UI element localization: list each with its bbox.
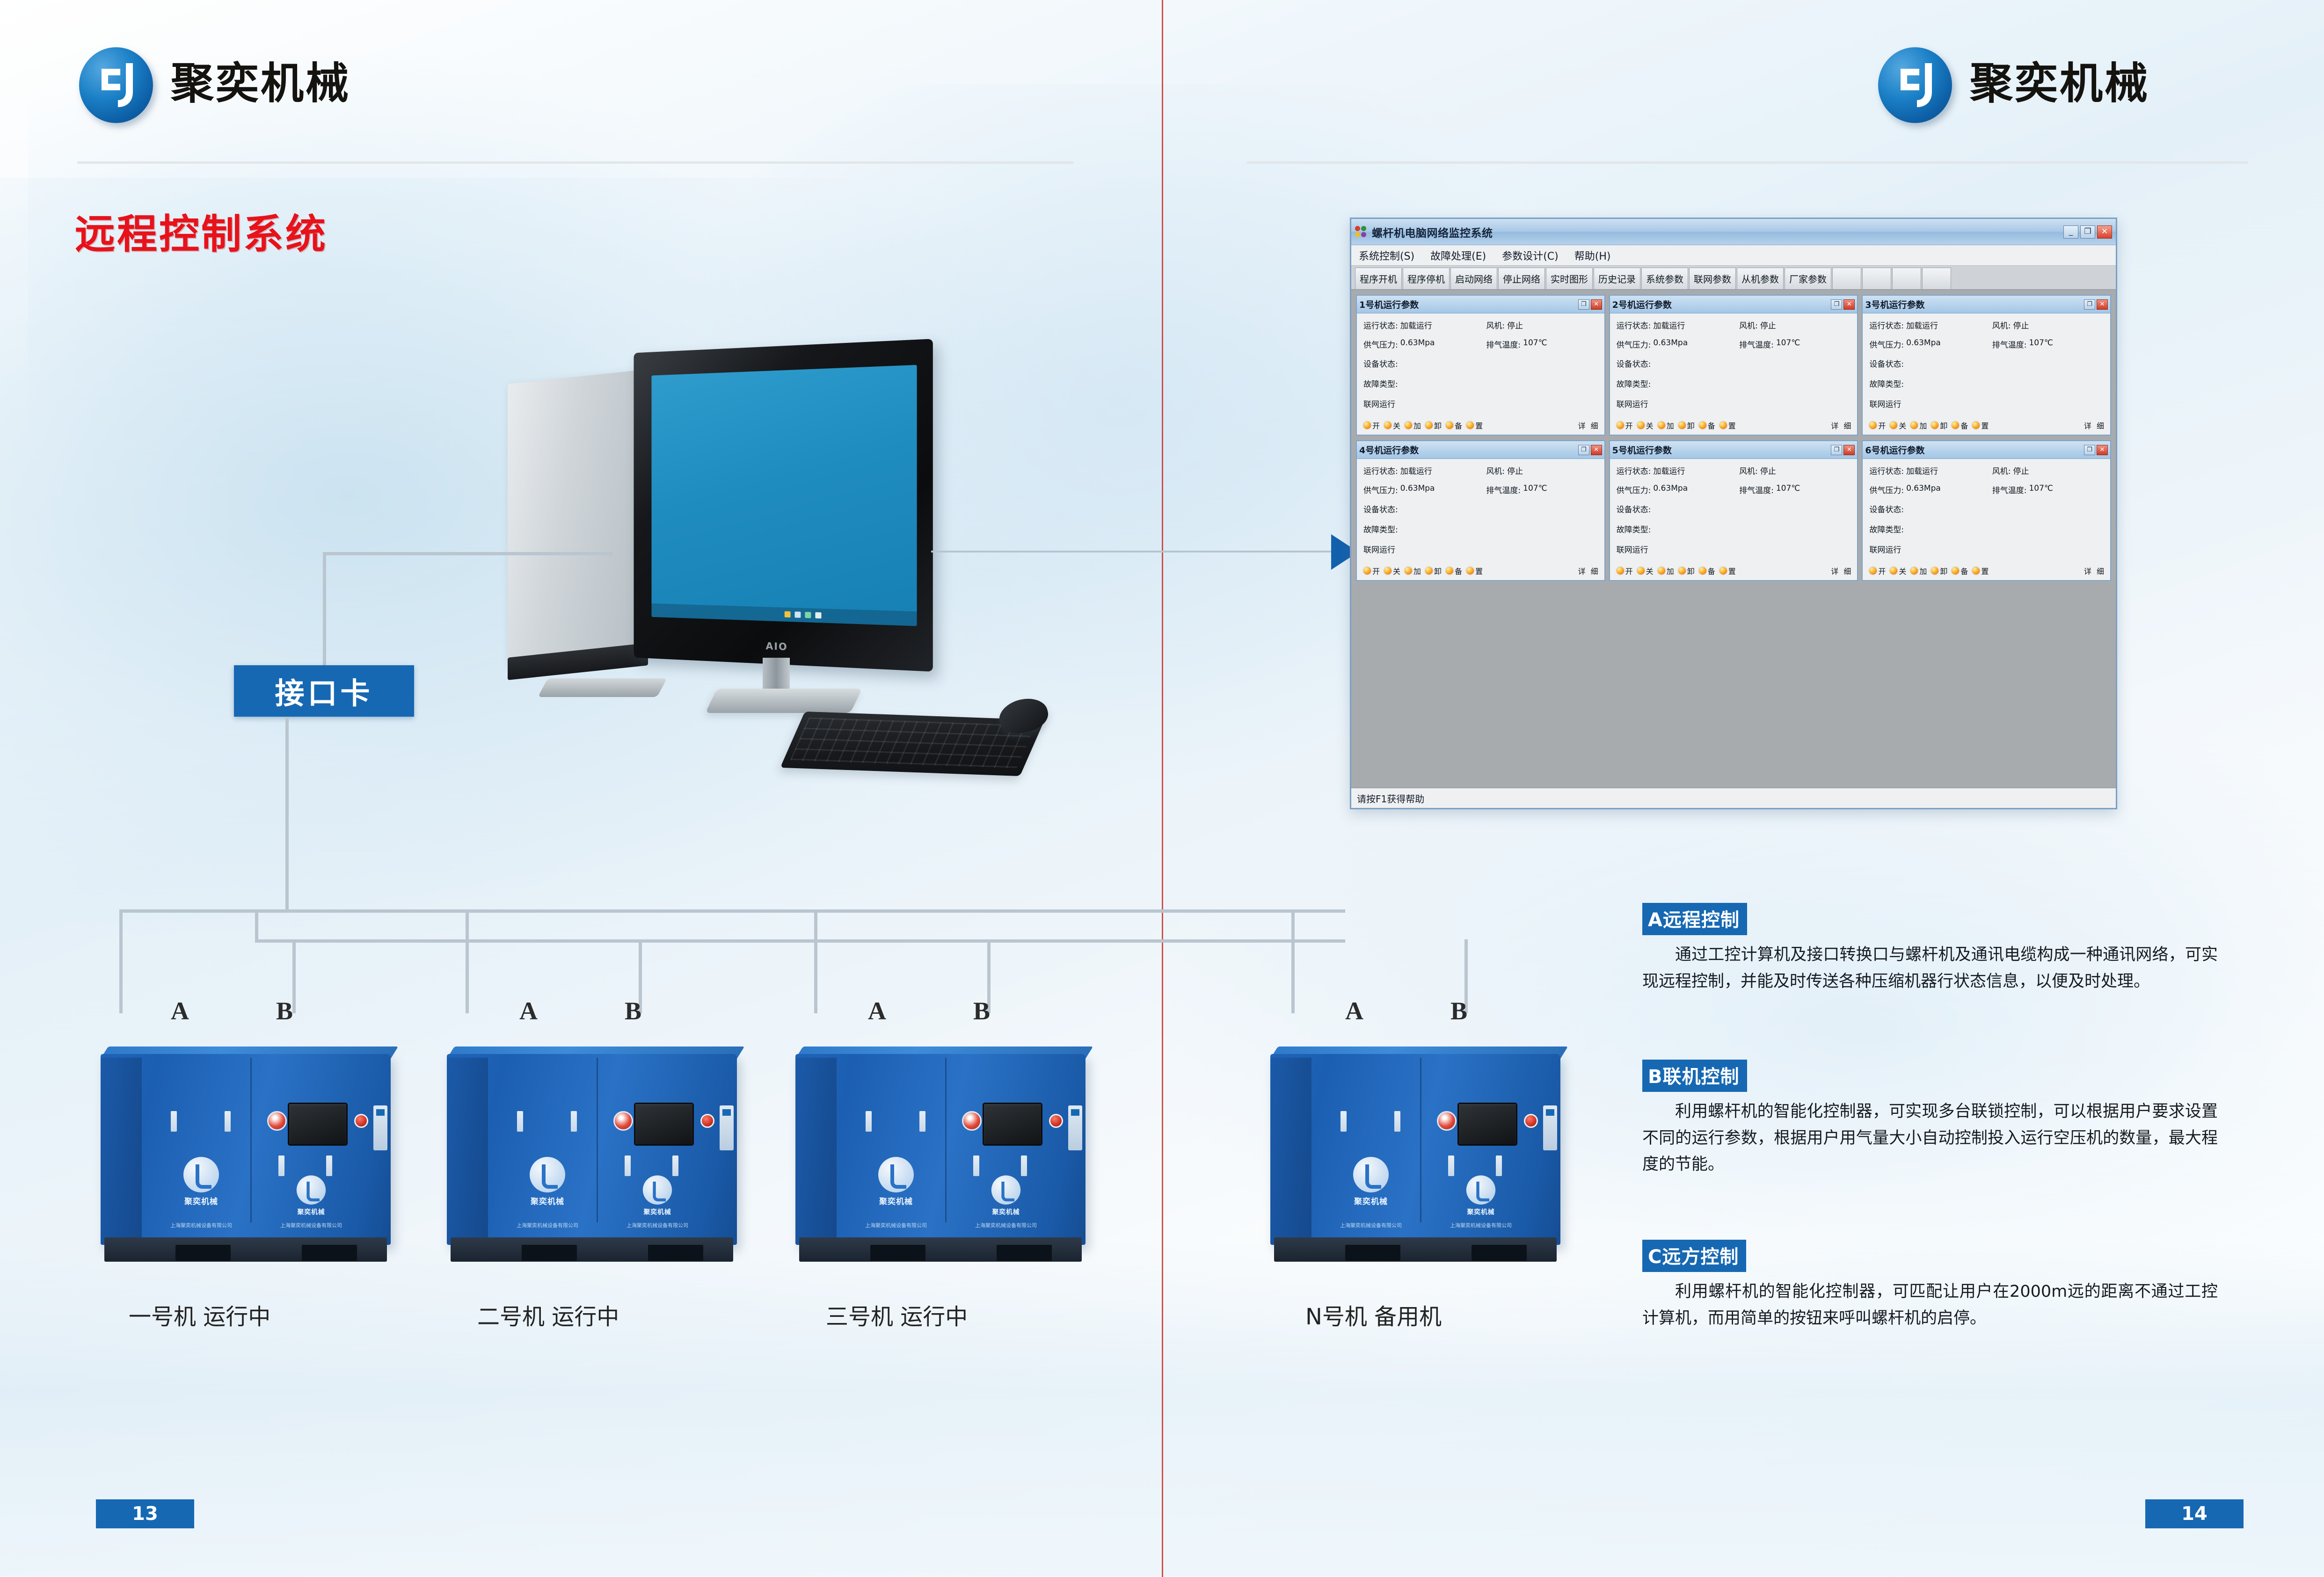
compressor-footer-3b: 上海聚奕机械设备有限公司 xyxy=(952,1222,1060,1229)
value-run-state-1: 加载运行 xyxy=(1400,319,1432,331)
compressor-emergency-stop-2[interactable] xyxy=(700,1114,714,1128)
wire-pc-drop xyxy=(610,552,613,557)
computer-illustration: AIO xyxy=(468,323,1048,697)
page-number-left: 13 xyxy=(96,1499,194,1528)
panel-body-4: 运行状态:加载运行 风机:停止 供气压力:0.63Mpa 排气温度:107℃ 设… xyxy=(1357,459,1604,580)
indicator-on-2[interactable]: 开 xyxy=(1617,420,1633,431)
led-icon-standby-2 xyxy=(1699,422,1706,429)
wire-card-down xyxy=(285,717,289,912)
logo-icon xyxy=(77,44,156,123)
label-fault-type-6: 故障类型: xyxy=(1869,523,1904,535)
logo-glyph-icon xyxy=(77,44,156,123)
label-supply-pressure-4: 供气压力: xyxy=(1363,484,1398,495)
compressor-gauge-n xyxy=(1437,1111,1457,1131)
page-spine-divider xyxy=(1162,0,1163,1577)
panel-controls-4: ❐ ✕ xyxy=(1578,445,1602,455)
window-controls: _ ❐ ✕ xyxy=(2063,225,2112,239)
panel-row-fault-3: 故障类型: xyxy=(1869,378,2105,389)
compressor-unit-n: 聚奕机械 聚奕机械 上海聚奕机械设备有限公司 上海聚奕机械设备有限公司 xyxy=(1270,1036,1560,1270)
compressor-footer-2: 上海聚奕机械设备有限公司 xyxy=(494,1222,601,1229)
tab-blank-1[interactable] xyxy=(1832,268,1861,289)
monitor-brand-mark: AIO xyxy=(766,640,788,653)
brand-logo-left: 聚奕机械 xyxy=(77,44,350,123)
secondary-monitor xyxy=(508,369,648,665)
wire-trunk-lower xyxy=(255,939,1345,943)
compressor-control-panel-1[interactable] xyxy=(288,1103,348,1146)
panel-header-2: 2号机运行参数 ❐ ✕ xyxy=(1610,296,1858,313)
label-fault-type-3: 故障类型: xyxy=(1869,378,1904,389)
panel-header-5: 5号机运行参数 ❐ ✕ xyxy=(1610,441,1858,459)
compressor-footer-1b: 上海聚奕机械设备有限公司 xyxy=(257,1222,365,1229)
compressor-unit-1: 聚奕机械 聚奕机械 上海聚奕机械设备有限公司 上海聚奕机械设备有限公司 xyxy=(101,1036,391,1270)
label-exhaust-temp-3: 排气温度: xyxy=(1992,338,2027,350)
label-run-state-3: 运行状态: xyxy=(1869,319,1904,331)
indicator-on-3[interactable]: 开 xyxy=(1869,420,1886,431)
status-text: 请按F1获得帮助 xyxy=(1357,792,1424,805)
compressor-footer-n: 上海聚奕机械设备有限公司 xyxy=(1317,1222,1425,1229)
panel-close-button-2[interactable]: ✕ xyxy=(1843,299,1855,310)
panel-row-devicestate-1: 设备状态: xyxy=(1363,357,1600,369)
led-icon-off-6 xyxy=(1890,567,1897,574)
panel-row-pressure-4: 供气压力:0.63Mpa 排气温度:107℃ xyxy=(1363,484,1600,495)
secondary-monitor-stand xyxy=(538,678,667,697)
panel-row-fault-4: 故障类型: xyxy=(1363,523,1600,535)
panel-row-network-5: 联网运行 xyxy=(1617,543,1853,555)
tab-blank-3[interactable] xyxy=(1892,268,1921,289)
tab-realtime-graph[interactable]: 实时图形 xyxy=(1546,268,1593,289)
panel-header-3: 3号机运行参数 ❐ ✕ xyxy=(1863,296,2110,313)
indicator-standby-4[interactable]: 备 xyxy=(1446,565,1462,576)
label-fault-type-5: 故障类型: xyxy=(1617,523,1651,535)
panel-restore-button-5[interactable]: ❐ xyxy=(1831,445,1842,455)
led-icon-reset-6 xyxy=(1972,567,1980,574)
indicator-reset-3[interactable]: 置 xyxy=(1972,420,1989,431)
brand-logo-right: 聚奕机械 xyxy=(1876,44,2149,123)
label-exhaust-temp-2: 排气温度: xyxy=(1739,338,1774,350)
indicator-unload-4[interactable]: 卸 xyxy=(1425,565,1442,576)
panel-row-fault-2: 故障类型: xyxy=(1617,378,1853,389)
led-icon-unload-5 xyxy=(1678,567,1686,574)
machine-panel-4[interactable]: 4号机运行参数 ❐ ✕ 运行状态:加载运行 风机:停止 供气压力:0.63Mpa… xyxy=(1356,440,1605,581)
indicator-load-4[interactable]: 加 xyxy=(1405,565,1421,576)
wire-drop-m2-a xyxy=(466,909,469,1013)
panel-title-4: 4号机运行参数 xyxy=(1359,443,1419,456)
panel-row-devicestate-4: 设备状态: xyxy=(1363,503,1600,515)
indicator-reset-2[interactable]: 置 xyxy=(1719,420,1736,431)
value-supply-pressure-1: 0.63Mpa xyxy=(1400,338,1435,350)
flow-arrow-line xyxy=(931,551,1338,552)
panel-title-1: 1号机运行参数 xyxy=(1359,298,1419,311)
menu-item-parameter-design[interactable]: 参数设计(C) xyxy=(1502,248,1559,263)
monitor-screen xyxy=(652,365,917,626)
wire-trunk-upper xyxy=(119,909,1345,913)
detail-button-5[interactable]: 详 细 xyxy=(1831,565,1852,576)
led-icon-on-5 xyxy=(1617,567,1624,574)
panel-row-fault-5: 故障类型: xyxy=(1617,523,1853,535)
menu-item-system-control[interactable]: 系统控制(S) xyxy=(1359,248,1414,263)
label-fault-type-1: 故障类型: xyxy=(1363,378,1398,389)
panel-row-runstate-1: 运行状态:加载运行 风机:停止 xyxy=(1363,319,1600,331)
label-network-run-5: 联网运行 xyxy=(1617,543,1648,555)
led-icon-standby-5 xyxy=(1699,567,1706,574)
indicator-off-3[interactable]: 关 xyxy=(1890,420,1906,431)
label-device-state-2: 设备状态: xyxy=(1617,357,1651,369)
panel-body-3: 运行状态:加载运行 风机:停止 供气压力:0.63Mpa 排气温度:107℃ 设… xyxy=(1863,313,2110,435)
panel-close-button-5[interactable]: ✕ xyxy=(1843,445,1855,455)
panel-restore-button-6[interactable]: ❐ xyxy=(2084,445,2095,455)
value-run-state-6: 加载运行 xyxy=(1906,465,1938,476)
compressor-logo-2: 聚奕机械 xyxy=(519,1157,576,1206)
toolbar-tab-bar: 程序开机 程序停机 启动网络 停止网络 实时图形 历史记录 系统参数 联网参数 … xyxy=(1351,266,2116,290)
label-run-state-6: 运行状态: xyxy=(1869,465,1904,476)
label-device-state-6: 设备状态: xyxy=(1869,503,1904,515)
panel-restore-button-2[interactable]: ❐ xyxy=(1831,299,1842,310)
compressor-gauge-2 xyxy=(613,1111,633,1131)
compressor-footer-2b: 上海聚奕机械设备有限公司 xyxy=(604,1222,711,1229)
indicator-unload-6[interactable]: 卸 xyxy=(1931,565,1947,576)
branch-label-m3-a: A xyxy=(868,996,886,1025)
compressor-control-panel-2[interactable] xyxy=(634,1103,694,1146)
led-icon-off-3 xyxy=(1890,422,1897,429)
branch-label-m3-b: B xyxy=(973,996,990,1025)
panel-controls-1: ❐ ✕ xyxy=(1578,299,1602,310)
feature-tag-c: C远方控制 xyxy=(1642,1240,1746,1272)
compressor-emergency-stop-1[interactable] xyxy=(354,1114,368,1128)
indicator-load-3[interactable]: 加 xyxy=(1910,420,1927,431)
compressor-unit-3: 聚奕机械 聚奕机械 上海聚奕机械设备有限公司 上海聚奕机械设备有限公司 xyxy=(795,1036,1086,1270)
panel-row-devicestate-3: 设备状态: xyxy=(1869,357,2105,369)
indicator-unload-2[interactable]: 卸 xyxy=(1678,420,1695,431)
feature-tag-a: A远程控制 xyxy=(1642,903,1747,935)
mdi-work-area: 1号机运行参数 ❐ ✕ 运行状态:加载运行 风机:停止 供气压力:0.63Mpa… xyxy=(1351,290,2116,787)
led-icon-unload-4 xyxy=(1425,567,1433,574)
value-supply-pressure-3: 0.63Mpa xyxy=(1906,338,1941,350)
wire-pc-horizontal xyxy=(323,552,613,555)
detail-button-6[interactable]: 详 细 xyxy=(2084,565,2105,576)
wire-drop-m1-a xyxy=(119,909,123,1013)
tab-network-params[interactable]: 联网参数 xyxy=(1689,268,1736,289)
value-supply-pressure-6: 0.63Mpa xyxy=(1906,484,1941,495)
label-exhaust-temp-5: 排气温度: xyxy=(1739,484,1774,495)
compressor-badge-2 xyxy=(720,1105,734,1150)
led-icon-off-5 xyxy=(1637,567,1645,574)
compressor-logo-n: 聚奕机械 xyxy=(1343,1157,1399,1206)
panel-header-6: 6号机运行参数 ❐ ✕ xyxy=(1863,441,2110,459)
window-title-bar: 螺杆机电脑网络监控系统 _ ❐ ✕ xyxy=(1351,219,2116,245)
wire-drop-m3-a xyxy=(814,909,817,1013)
window-title: 螺杆机电脑网络监控系统 xyxy=(1372,224,1493,240)
value-supply-pressure-4: 0.63Mpa xyxy=(1400,484,1435,495)
compressor-gauge-1 xyxy=(267,1111,287,1131)
led-icon-load-1 xyxy=(1405,422,1412,429)
label-run-state-5: 运行状态: xyxy=(1617,465,1651,476)
compressor-label-n: N号机 备用机 xyxy=(1305,1298,1442,1331)
indicator-load-1[interactable]: 加 xyxy=(1405,420,1421,431)
value-run-state-4: 加载运行 xyxy=(1400,465,1432,476)
value-run-state-3: 加载运行 xyxy=(1906,319,1938,331)
panel-row-fault-6: 故障类型: xyxy=(1869,523,2105,535)
indicator-on-6[interactable]: 开 xyxy=(1869,565,1886,576)
led-icon-on-6 xyxy=(1869,567,1877,574)
wire-drop-m1-b xyxy=(292,939,296,1013)
indicator-on-5[interactable]: 开 xyxy=(1617,565,1633,576)
led-icon-load-2 xyxy=(1658,422,1665,429)
machine-panel-6[interactable]: 6号机运行参数 ❐ ✕ 运行状态:加载运行 风机:停止 供气压力:0.63Mpa… xyxy=(1862,440,2111,581)
tab-blank-4[interactable] xyxy=(1922,268,1951,289)
led-icon-reset-4 xyxy=(1466,567,1474,574)
wire-pc-to-card xyxy=(323,552,326,667)
panel-body-5: 运行状态:加载运行 风机:停止 供气压力:0.63Mpa 排气温度:107℃ 设… xyxy=(1610,459,1858,580)
machine-panel-1[interactable]: 1号机运行参数 ❐ ✕ 运行状态:加载运行 风机:停止 供气压力:0.63Mpa… xyxy=(1356,295,1605,436)
panel-body-6: 运行状态:加载运行 风机:停止 供气压力:0.63Mpa 排气温度:107℃ 设… xyxy=(1863,459,2110,580)
maximize-button[interactable]: ❐ xyxy=(2080,225,2095,239)
indicator-off-1[interactable]: 关 xyxy=(1384,420,1400,431)
compressor-logo-3: 聚奕机械 xyxy=(868,1157,924,1206)
indicator-standby-2[interactable]: 备 xyxy=(1699,420,1715,431)
panel-body-1: 运行状态:加载运行 风机:停止 供气压力:0.63Mpa 排气温度:107℃ 设… xyxy=(1357,313,1604,435)
brand-name-right: 聚奕机械 xyxy=(1970,62,2149,105)
value-fan-2: 停止 xyxy=(1760,319,1776,331)
panel-indicators-1: 开 关 加 卸 备 置 详 细 xyxy=(1363,418,1600,431)
detail-button-1[interactable]: 详 细 xyxy=(1578,420,1600,431)
app-logo-icon xyxy=(1355,226,1367,238)
indicator-unload-1[interactable]: 卸 xyxy=(1425,420,1442,431)
feature-block-b: B联机控制 利用螺杆机的智能化控制器，可实现多台联锁控制，可以根据用户要求设置不… xyxy=(1642,1060,2218,1178)
primary-monitor: AIO xyxy=(634,339,933,672)
logo-icon-right xyxy=(1876,44,1955,123)
led-icon-reset-5 xyxy=(1719,567,1727,574)
panel-row-network-2: 联网运行 xyxy=(1617,398,1853,409)
panel-indicators-3: 开 关 加 卸 备 置 详 细 xyxy=(1869,418,2105,431)
branch-label-mn-b: B xyxy=(1450,996,1467,1025)
screen-taskbar xyxy=(652,603,917,626)
tab-system-params[interactable]: 系统参数 xyxy=(1641,268,1688,289)
label-network-run-3: 联网运行 xyxy=(1869,398,1901,409)
panel-row-pressure-6: 供气压力:0.63Mpa 排气温度:107℃ xyxy=(1869,484,2105,495)
value-fan-4: 停止 xyxy=(1507,465,1523,476)
menu-item-fault-handling[interactable]: 故障处理(E) xyxy=(1430,248,1486,263)
panel-row-1: 1号机运行参数 ❐ ✕ 运行状态:加载运行 风机:停止 供气压力:0.63Mpa… xyxy=(1356,295,2111,436)
value-exhaust-temp-4: 107℃ xyxy=(1523,484,1547,495)
indicator-unload-5[interactable]: 卸 xyxy=(1678,565,1695,576)
monitoring-software-window[interactable]: 螺杆机电脑网络监控系统 _ ❐ ✕ 系统控制(S) 故障处理(E) 参数设计(C… xyxy=(1350,218,2117,809)
indicator-reset-5[interactable]: 置 xyxy=(1719,565,1736,576)
indicator-unload-3[interactable]: 卸 xyxy=(1931,420,1947,431)
panel-close-button-1[interactable]: ✕ xyxy=(1591,299,1602,310)
panel-restore-button-4[interactable]: ❐ xyxy=(1578,445,1589,455)
panel-title-6: 6号机运行参数 xyxy=(1865,443,1924,456)
led-icon-unload-2 xyxy=(1678,422,1686,429)
panel-restore-button-3[interactable]: ❐ xyxy=(2084,299,2095,310)
close-button[interactable]: ✕ xyxy=(2097,225,2112,239)
panel-controls-3: ❐ ✕ xyxy=(2084,299,2108,310)
led-icon-standby-1 xyxy=(1446,422,1453,429)
tab-slave-params[interactable]: 从机参数 xyxy=(1737,268,1784,289)
label-run-state-1: 运行状态: xyxy=(1363,319,1398,331)
panel-indicators-5: 开 关 加 卸 备 置 详 细 xyxy=(1617,563,1853,576)
led-icon-off-2 xyxy=(1637,422,1645,429)
tab-blank-2[interactable] xyxy=(1862,268,1891,289)
feature-block-a: A远程控制 通过工控计算机及接口转换口与螺杆机及通讯电缆构成一种通讯网络，可实现… xyxy=(1642,903,2218,995)
panel-header-4: 4号机运行参数 ❐ ✕ xyxy=(1357,441,1604,459)
tab-network-stop[interactable]: 停止网络 xyxy=(1498,268,1545,289)
logo-glyph-icon-right xyxy=(1876,44,1955,123)
panel-row-runstate-3: 运行状态:加载运行 风机:停止 xyxy=(1869,319,2105,331)
panel-row-runstate-4: 运行状态:加载运行 风机:停止 xyxy=(1363,465,1600,476)
indicator-load-2[interactable]: 加 xyxy=(1658,420,1674,431)
page-number-right: 14 xyxy=(2145,1499,2244,1528)
indicator-on-1[interactable]: 开 xyxy=(1363,420,1380,431)
panel-title-5: 5号机运行参数 xyxy=(1612,443,1672,456)
detail-button-2[interactable]: 详 细 xyxy=(1831,420,1852,431)
label-fan-3: 风机: xyxy=(1992,319,2011,331)
label-supply-pressure-5: 供气压力: xyxy=(1617,484,1651,495)
label-network-run-1: 联网运行 xyxy=(1363,398,1395,409)
compressor-control-panel-3[interactable] xyxy=(983,1103,1042,1146)
label-device-state-4: 设备状态: xyxy=(1363,503,1398,515)
panel-row-pressure-1: 供气压力:0.63Mpa 排气温度:107℃ xyxy=(1363,338,1600,350)
led-icon-unload-3 xyxy=(1931,422,1938,429)
panel-row-fault-1: 故障类型: xyxy=(1363,378,1600,389)
led-icon-on-3 xyxy=(1869,422,1877,429)
detail-button-4[interactable]: 详 细 xyxy=(1578,565,1600,576)
label-supply-pressure-1: 供气压力: xyxy=(1363,338,1398,350)
indicator-reset-6[interactable]: 置 xyxy=(1972,565,1989,576)
panel-title-2: 2号机运行参数 xyxy=(1612,298,1672,311)
detail-button-3[interactable]: 详 细 xyxy=(2084,420,2105,431)
feature-block-c: C远方控制 利用螺杆机的智能化控制器，可匹配让用户在2000m远的距离不通过工控… xyxy=(1642,1240,2218,1331)
header-rule-left xyxy=(77,161,1074,164)
panel-indicators-4: 开 关 加 卸 备 置 详 细 xyxy=(1363,563,1600,576)
panel-restore-button-1[interactable]: ❐ xyxy=(1578,299,1589,310)
led-icon-standby-4 xyxy=(1446,567,1453,574)
status-bar: 请按F1获得帮助 xyxy=(1351,787,2116,808)
panel-row-network-4: 联网运行 xyxy=(1363,543,1600,555)
label-exhaust-temp-4: 排气温度: xyxy=(1486,484,1521,495)
label-run-state-2: 运行状态: xyxy=(1617,319,1651,331)
value-exhaust-temp-5: 107℃ xyxy=(1776,484,1800,495)
compressor-control-panel-n[interactable] xyxy=(1457,1103,1517,1146)
led-icon-load-5 xyxy=(1658,567,1665,574)
led-icon-standby-3 xyxy=(1952,422,1959,429)
compressor-logo-nb: 聚奕机械 xyxy=(1458,1176,1504,1216)
indicator-off-2[interactable]: 关 xyxy=(1637,420,1654,431)
indicator-load-6[interactable]: 加 xyxy=(1910,565,1927,576)
panel-row-2: 4号机运行参数 ❐ ✕ 运行状态:加载运行 风机:停止 供气压力:0.63Mpa… xyxy=(1356,440,2111,581)
indicator-standby-1[interactable]: 备 xyxy=(1446,420,1462,431)
compressor-label-2: 二号机 运行中 xyxy=(477,1298,619,1331)
led-icon-reset-3 xyxy=(1972,422,1980,429)
compressor-unit-2: 聚奕机械 聚奕机械 上海聚奕机械设备有限公司 上海聚奕机械设备有限公司 xyxy=(447,1036,737,1270)
panel-close-button-4[interactable]: ✕ xyxy=(1591,445,1602,455)
indicator-load-5[interactable]: 加 xyxy=(1658,565,1674,576)
value-fan-1: 停止 xyxy=(1507,319,1523,331)
led-icon-on-1 xyxy=(1363,422,1371,429)
tab-program-stop[interactable]: 程序停机 xyxy=(1403,268,1450,289)
indicator-standby-5[interactable]: 备 xyxy=(1699,565,1715,576)
panel-close-button-6[interactable]: ✕ xyxy=(2097,445,2108,455)
indicator-reset-4[interactable]: 置 xyxy=(1466,565,1483,576)
led-icon-load-4 xyxy=(1405,567,1412,574)
indicator-reset-1[interactable]: 置 xyxy=(1466,420,1483,431)
page-title: 远程控制系统 xyxy=(75,201,328,260)
compressor-logo-3b: 聚奕机械 xyxy=(983,1176,1029,1216)
label-fan-6: 风机: xyxy=(1992,465,2011,476)
indicator-off-6[interactable]: 关 xyxy=(1890,565,1906,576)
indicator-standby-6[interactable]: 备 xyxy=(1952,565,1968,576)
compressor-emergency-stop-n[interactable] xyxy=(1524,1114,1538,1128)
label-run-state-4: 运行状态: xyxy=(1363,465,1398,476)
value-fan-5: 停止 xyxy=(1760,465,1776,476)
compressor-badge-1 xyxy=(373,1105,387,1150)
monitor-base xyxy=(705,689,862,713)
wire-drop-mn-a xyxy=(1291,909,1295,1013)
indicator-off-4[interactable]: 关 xyxy=(1384,565,1400,576)
compressor-logo-2b: 聚奕机械 xyxy=(634,1176,680,1216)
brand-name: 聚奕机械 xyxy=(171,62,350,105)
indicator-on-4[interactable]: 开 xyxy=(1363,565,1380,576)
menu-item-help[interactable]: 帮助(H) xyxy=(1574,248,1611,263)
panel-close-button-3[interactable]: ✕ xyxy=(2097,299,2108,310)
feature-text-a: 通过工控计算机及接口转换口与螺杆机及通讯电缆构成一种通讯网络，可实现远程控制，并… xyxy=(1642,942,2218,995)
led-icon-reset-2 xyxy=(1719,422,1727,429)
panel-row-devicestate-5: 设备状态: xyxy=(1617,503,1853,515)
branch-label-m2-b: B xyxy=(625,996,641,1025)
compressor-label-1: 一号机 运行中 xyxy=(129,1298,270,1331)
indicator-off-5[interactable]: 关 xyxy=(1637,565,1654,576)
panel-row-network-1: 联网运行 xyxy=(1363,398,1600,409)
label-fan-1: 风机: xyxy=(1486,319,1505,331)
tab-factory-params[interactable]: 厂家参数 xyxy=(1785,268,1831,289)
led-icon-on-4 xyxy=(1363,567,1371,574)
panel-controls-6: ❐ ✕ xyxy=(2084,445,2108,455)
led-icon-on-2 xyxy=(1617,422,1624,429)
branch-label-m1-b: B xyxy=(276,996,293,1025)
machine-panel-2[interactable]: 2号机运行参数 ❐ ✕ 运行状态:加载运行 风机:停止 供气压力:0.63Mpa… xyxy=(1609,295,1858,436)
tab-program-start[interactable]: 程序开机 xyxy=(1355,268,1402,289)
panel-row-pressure-5: 供气压力:0.63Mpa 排气温度:107℃ xyxy=(1617,484,1853,495)
indicator-standby-3[interactable]: 备 xyxy=(1952,420,1968,431)
compressor-logo-1b: 聚奕机械 xyxy=(288,1176,334,1216)
led-icon-off-4 xyxy=(1384,567,1391,574)
panel-row-devicestate-2: 设备状态: xyxy=(1617,357,1853,369)
compressor-emergency-stop-3[interactable] xyxy=(1049,1114,1063,1128)
label-fault-type-4: 故障类型: xyxy=(1363,523,1398,535)
compressor-gauge-3 xyxy=(962,1111,982,1131)
compressor-footer-1: 上海聚奕机械设备有限公司 xyxy=(147,1222,255,1229)
tab-network-start[interactable]: 启动网络 xyxy=(1450,268,1497,289)
feature-text-c: 利用螺杆机的智能化控制器，可匹配让用户在2000m远的距离不通过工控计算机，而用… xyxy=(1642,1279,2218,1331)
panel-indicators-2: 开 关 加 卸 备 置 详 细 xyxy=(1617,418,1853,431)
value-exhaust-temp-6: 107℃ xyxy=(2029,484,2053,495)
value-exhaust-temp-1: 107℃ xyxy=(1523,338,1547,350)
label-fan-4: 风机: xyxy=(1486,465,1505,476)
menu-bar: 系统控制(S) 故障处理(E) 参数设计(C) 帮助(H) xyxy=(1351,245,2116,266)
panel-row-runstate-2: 运行状态:加载运行 风机:停止 xyxy=(1617,319,1853,331)
tab-history-log[interactable]: 历史记录 xyxy=(1594,268,1640,289)
minimize-button[interactable]: _ xyxy=(2063,225,2078,239)
led-icon-off-1 xyxy=(1384,422,1391,429)
machine-panel-3[interactable]: 3号机运行参数 ❐ ✕ 运行状态:加载运行 风机:停止 供气压力:0.63Mpa… xyxy=(1862,295,2111,436)
panel-controls-5: ❐ ✕ xyxy=(1831,445,1855,455)
value-fan-6: 停止 xyxy=(2013,465,2029,476)
panel-header-1: 1号机运行参数 ❐ ✕ xyxy=(1357,296,1604,313)
led-icon-load-3 xyxy=(1910,422,1918,429)
machine-panel-5[interactable]: 5号机运行参数 ❐ ✕ 运行状态:加载运行 风机:停止 供气压力:0.63Mpa… xyxy=(1609,440,1858,581)
label-network-run-2: 联网运行 xyxy=(1617,398,1648,409)
panel-row-runstate-5: 运行状态:加载运行 风机:停止 xyxy=(1617,465,1853,476)
label-device-state-1: 设备状态: xyxy=(1363,357,1398,369)
